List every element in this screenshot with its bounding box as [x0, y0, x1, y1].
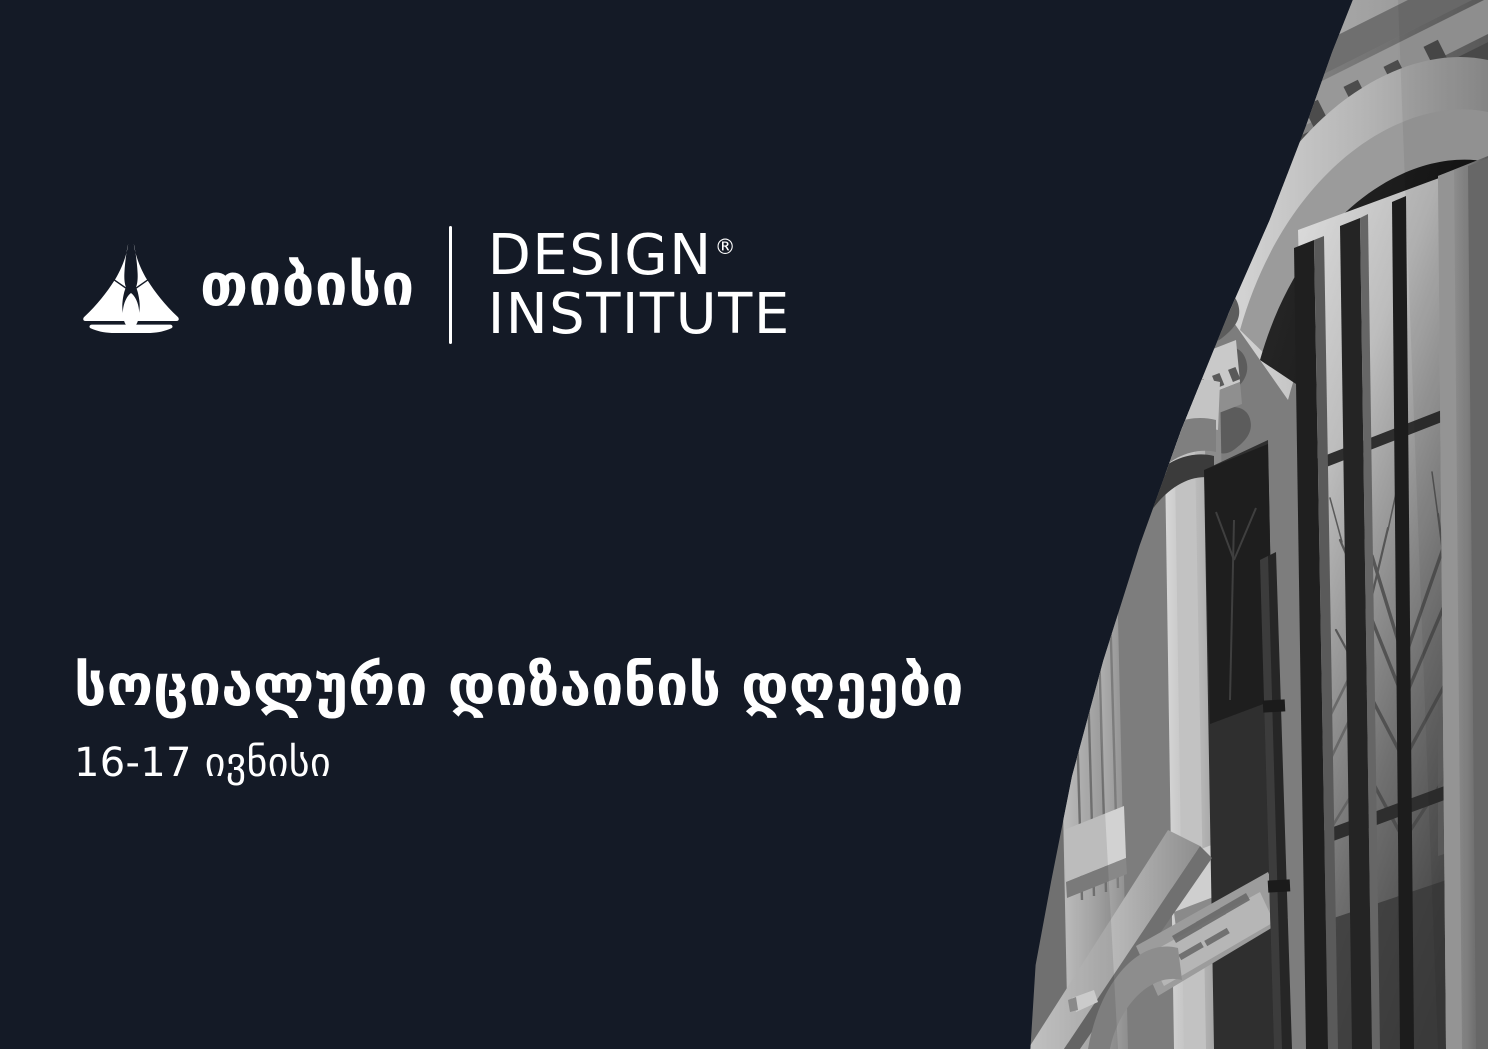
- headline-block: სოციალური დიზაინის დღეები 16-17 ივნისი: [74, 655, 964, 785]
- design-word: DESIGN: [488, 226, 713, 285]
- building-facade-photo: [968, 0, 1488, 1049]
- design-institute-line-2: INSTITUTE: [488, 285, 791, 344]
- registered-trademark-icon: ®: [715, 235, 738, 259]
- event-title: სოციალური დიზაინის დღეები: [74, 655, 964, 719]
- brand-divider: [449, 226, 452, 344]
- tbc-triskelion-triangle-logo-icon: [78, 237, 184, 333]
- event-date: 16-17 ივნისი: [74, 741, 964, 785]
- design-institute-name: DESIGN® INSTITUTE: [488, 226, 791, 345]
- event-poster: თიბისი DESIGN® INSTITUTE სოციალური დიზაი…: [0, 0, 1488, 1049]
- brand-lockup: თიბისი DESIGN® INSTITUTE: [78, 225, 791, 345]
- design-institute-line-1: DESIGN®: [488, 226, 791, 285]
- facade-illustration: [968, 0, 1488, 1049]
- tbc-wordmark: თიბისი: [200, 256, 415, 314]
